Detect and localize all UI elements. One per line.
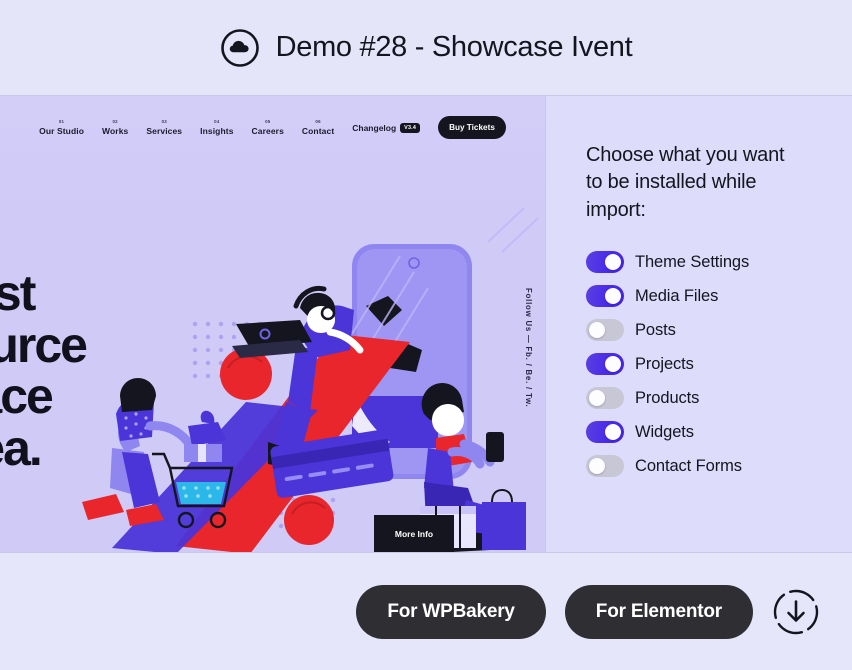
more-info-button[interactable]: More Info [374,515,454,552]
preview-nav-label: Changelog [352,123,396,133]
theme-demo-import-dialog: Demo #28 - Showcase Ivent [0,0,852,670]
toggle-media-files[interactable] [586,285,624,307]
preview-nav-num: 03 [162,119,167,124]
dialog-body: 01 Our Studio 02 Works 03 Services 04 In… [0,95,852,553]
toggle-knob [605,424,621,440]
import-options-panel: Choose what you want to be installed whi… [545,96,852,552]
theme-preview[interactable]: 01 Our Studio 02 Works 03 Services 04 In… [0,96,545,552]
preview-nav-label: Insights [200,126,233,136]
dialog-header: Demo #28 - Showcase Ivent [0,0,852,95]
preview-nav-label: Careers [252,126,284,136]
option-row-theme-settings[interactable]: Theme Settings [586,251,852,273]
for-elementor-button[interactable]: For Elementor [565,585,753,639]
toggle-knob [589,322,605,338]
download-circle-dashed-icon[interactable] [772,588,820,636]
option-label-contact-forms: Contact Forms [635,457,742,476]
for-wpbakery-button[interactable]: For WPBakery [356,585,545,639]
preview-nav-item-works[interactable]: 02 Works [102,119,128,136]
toggle-knob [589,458,605,474]
preview-nav-num: 05 [265,119,270,124]
option-label-posts: Posts [635,321,676,340]
option-row-posts[interactable]: Posts [586,319,852,341]
dialog-footer: For WPBakery For Elementor [0,553,852,670]
preview-nav-item-insights[interactable]: 04 Insights [200,119,233,136]
toggle-theme-settings[interactable] [586,251,624,273]
buy-tickets-button[interactable]: Buy Tickets [438,116,506,139]
option-label-widgets: Widgets [635,423,694,442]
toggle-knob [605,254,621,270]
preview-nav-num: 04 [214,119,219,124]
preview-headline-line-1: Best [0,268,86,320]
preview-nav-item-our-studio[interactable]: 01 Our Studio [39,119,84,136]
option-row-widgets[interactable]: Widgets [586,421,852,443]
preview-headline-line-3: place [0,371,86,423]
option-row-products[interactable]: Products [586,387,852,409]
option-label-projects: Projects [635,355,694,374]
preview-nav-label: Our Studio [39,126,84,136]
toggle-knob [589,390,605,406]
preview-follow-us-text: Follow Us — Fb. / Be. / Tw. [524,288,533,408]
toggle-products[interactable] [586,387,624,409]
version-badge: V3.4 [400,123,420,133]
option-row-projects[interactable]: Projects [586,353,852,375]
toggle-knob [605,356,621,372]
toggle-widgets[interactable] [586,421,624,443]
preview-nav-item-contact[interactable]: 06 Contact [302,119,334,136]
preview-nav-item-services[interactable]: 03 Services [146,119,182,136]
preview-headline-line-2: source [0,320,86,372]
import-options-list: Theme Settings Media Files Posts Project… [586,251,852,477]
option-label-theme-settings: Theme Settings [635,253,749,272]
preview-nav-num: 02 [113,119,118,124]
option-row-media-files[interactable]: Media Files [586,285,852,307]
page-title: Demo #28 - Showcase Ivent [276,31,633,64]
cloud-circle-icon [220,28,260,68]
option-row-contact-forms[interactable]: Contact Forms [586,455,852,477]
toggle-projects[interactable] [586,353,624,375]
preview-headline: Best source place area. [0,268,86,474]
import-options-title: Choose what you want to be installed whi… [586,142,796,224]
toggle-contact-forms[interactable] [586,455,624,477]
preview-nav-label: Services [146,126,182,136]
toggle-knob [605,288,621,304]
preview-nav-item-careers[interactable]: 05 Careers [252,119,284,136]
option-label-media-files: Media Files [635,287,718,306]
preview-nav-num: 01 [59,119,64,124]
preview-headline-line-4: area. [0,423,86,475]
preview-nav-item-changelog[interactable]: Changelog V3.4 [352,123,420,133]
toggle-posts[interactable] [586,319,624,341]
option-label-products: Products [635,389,699,408]
preview-navbar[interactable]: 01 Our Studio 02 Works 03 Services 04 In… [0,116,545,139]
preview-nav-label: Works [102,126,128,136]
preview-nav-label: Contact [302,126,334,136]
preview-nav-num: 06 [315,119,320,124]
